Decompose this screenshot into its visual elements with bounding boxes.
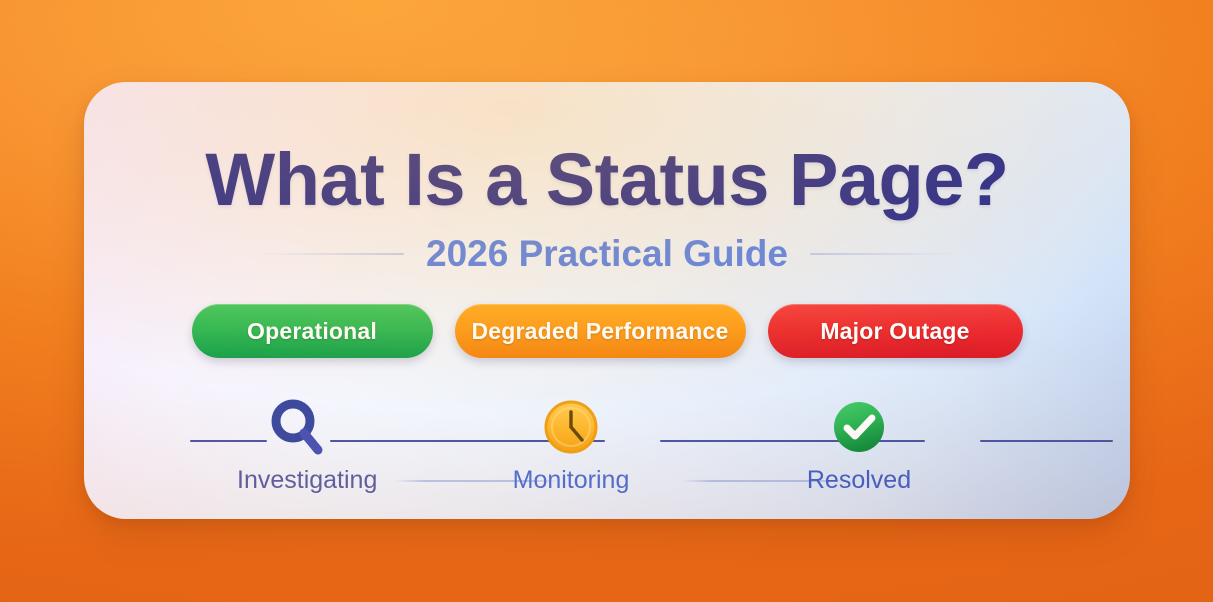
clock-icon: [511, 390, 631, 464]
timeline-step-label: Resolved: [799, 466, 919, 495]
timeline-step-monitoring[interactable]: Monitoring: [511, 390, 631, 495]
timeline-step-label: Monitoring: [511, 466, 631, 495]
status-page-card: What Is a Status Page? 2026 Practical Gu…: [84, 82, 1130, 519]
page-subtitle: 2026 Practical Guide: [426, 233, 788, 275]
subtitle-rule-right: [810, 253, 956, 255]
check-circle-icon: [799, 390, 919, 464]
status-badge-operational[interactable]: Operational: [192, 304, 433, 358]
subtitle-rule-left: [258, 253, 404, 255]
status-badge-major-outage[interactable]: Major Outage: [768, 304, 1023, 358]
status-badge-degraded[interactable]: Degraded Performance: [455, 304, 746, 358]
timeline-step-label: Investigating: [237, 466, 357, 495]
poster-canvas: What Is a Status Page? 2026 Practical Gu…: [0, 0, 1213, 602]
magnifier-icon: [237, 390, 357, 464]
timeline-step-investigating[interactable]: Investigating: [237, 390, 357, 495]
incident-timeline: Investigating: [190, 390, 1024, 495]
timeline-step-resolved[interactable]: Resolved: [799, 390, 919, 495]
timeline-rail-end: [980, 440, 1113, 442]
page-title: What Is a Status Page?: [84, 137, 1130, 222]
status-badge-group: Operational Degraded Performance Major O…: [84, 304, 1130, 358]
subtitle-row: 2026 Practical Guide: [84, 230, 1130, 278]
